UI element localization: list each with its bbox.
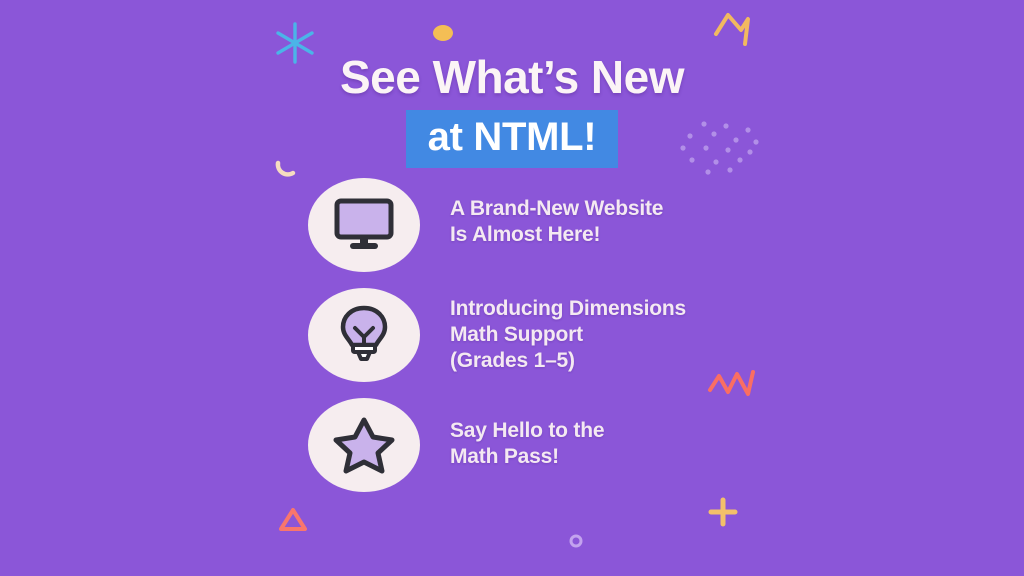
feature-item-website: A Brand-New Website Is Almost Here! bbox=[308, 178, 908, 272]
feature-text: Say Hello to the Math Pass! bbox=[420, 398, 908, 470]
feature-icon-badge bbox=[308, 288, 420, 382]
feature-text-line: Is Almost Here! bbox=[450, 222, 908, 248]
feature-text: Introducing Dimensions Math Support (Gra… bbox=[420, 288, 908, 374]
yellow-dot bbox=[432, 24, 454, 42]
slide-canvas: See What’s New at NTML! A Brand-New Webs… bbox=[0, 0, 1024, 576]
purple-ring bbox=[567, 532, 585, 550]
title-highlight-band: at NTML! bbox=[406, 110, 619, 168]
feature-icon-badge bbox=[308, 178, 420, 272]
feature-text: A Brand-New Website Is Almost Here! bbox=[420, 178, 908, 248]
slide-heading: See What’s New at NTML! bbox=[0, 50, 1024, 168]
yellow-zigzag-top-right bbox=[712, 6, 764, 50]
feature-text-line: Math Pass! bbox=[450, 444, 908, 470]
title-line-2: at NTML! bbox=[428, 114, 597, 160]
star-icon bbox=[332, 415, 396, 475]
lightbulb-icon bbox=[337, 304, 391, 366]
feature-icon-badge bbox=[308, 398, 420, 492]
title-line-1: See What’s New bbox=[0, 50, 1024, 104]
coral-triangle-outline bbox=[276, 505, 310, 535]
feature-item-dimensions-math: Introducing Dimensions Math Support (Gra… bbox=[308, 288, 908, 382]
feature-text-line: Math Support bbox=[450, 322, 908, 348]
feature-text-line: (Grades 1–5) bbox=[450, 348, 908, 374]
feature-list: A Brand-New Website Is Almost Here! bbox=[308, 178, 908, 508]
feature-item-math-pass: Say Hello to the Math Pass! bbox=[308, 398, 908, 492]
monitor-icon bbox=[332, 196, 396, 254]
feature-text-line: A Brand-New Website bbox=[450, 196, 908, 222]
feature-text-line: Introducing Dimensions bbox=[450, 296, 908, 322]
feature-text-line: Say Hello to the bbox=[450, 418, 908, 444]
